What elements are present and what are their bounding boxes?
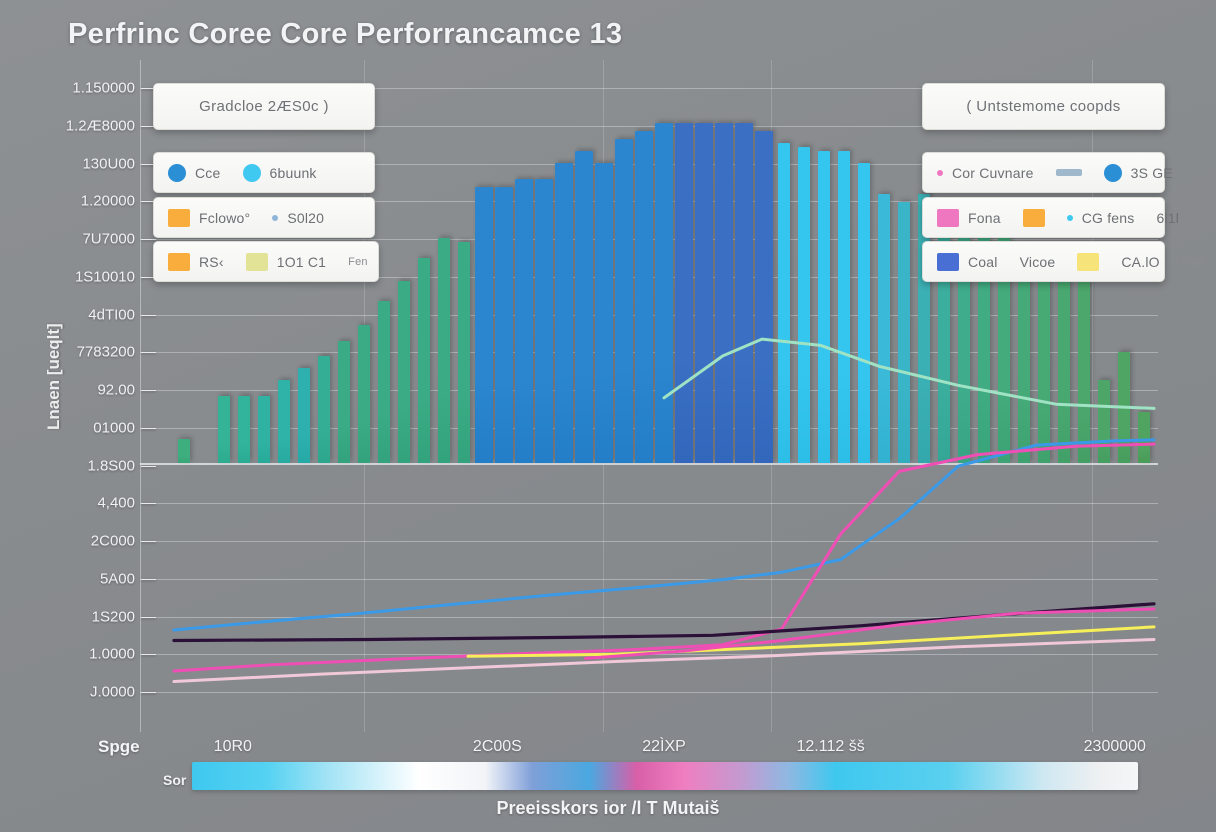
legend-label: 1O1 C1	[277, 254, 326, 270]
y-axis-label: Lnaen [ueqlt]	[44, 323, 64, 430]
y-tick-text: 130U00	[82, 155, 135, 172]
legend-square-icon	[1077, 253, 1099, 271]
x-axis-label: Spge	[98, 737, 140, 757]
y-tick-mark: —	[141, 80, 152, 97]
y-tick-label: 1.0000—	[89, 646, 152, 663]
y-tick-text: 5A00	[100, 570, 135, 587]
y-tick-mark: —	[141, 306, 152, 323]
line-pink-pale-low	[174, 640, 1154, 682]
legend-square-icon	[246, 253, 268, 271]
y-tick-text: 01000	[93, 419, 135, 436]
page-title: Perfrinc Coree Core Perforrancamce 13	[68, 18, 622, 51]
y-tick-text: 4,400	[97, 495, 135, 512]
y-tick-mark: —	[141, 268, 152, 285]
legend-label: 3S GE	[1131, 165, 1173, 181]
x-tick-label: 10R0	[214, 738, 252, 756]
legend-label: 6buunk	[270, 165, 317, 181]
line-mint-descending	[664, 339, 1154, 408]
legend-entry[interactable]: S0l20	[272, 210, 324, 226]
x-tick-label: 2300000	[1084, 738, 1146, 756]
legend-label: Coal	[968, 254, 998, 270]
legend-entry[interactable]: 1O1 C1	[246, 253, 326, 271]
y-tick-text: 92.00	[97, 382, 135, 399]
legend-header-card[interactable]: Gradcloe 2ÆS0c )	[153, 83, 375, 130]
y-tick-label: 130U00—	[82, 155, 152, 172]
legend-square-icon	[937, 253, 959, 271]
legend-label: S0l20	[287, 210, 324, 226]
legend-row[interactable]: Cce6buunk	[153, 152, 375, 193]
x-tick-label: 12.112 šš	[796, 738, 864, 756]
y-tick-text: 1S200	[92, 608, 135, 625]
legend-label: Vicoe	[1020, 254, 1056, 270]
colorbar-caption: Preeisskors ior /l T Mutaiš	[0, 798, 1216, 819]
legend-entry[interactable]: Coal	[937, 253, 998, 271]
y-tick-label: 7U7000—	[82, 231, 152, 248]
legend-small-dot-icon	[1067, 215, 1073, 221]
legend-entry[interactable]: Vicoe	[1020, 254, 1056, 270]
legend-dot-icon	[1104, 164, 1122, 182]
legend-row[interactable]: FonaCG fens6l1l	[922, 197, 1165, 238]
legend-entry[interactable]: 6buunk	[243, 164, 317, 182]
y-tick-text: 4dTI00	[88, 306, 135, 323]
legend-entry[interactable]	[1077, 253, 1099, 271]
y-tick-label: 7783200—	[77, 344, 152, 361]
y-tick-mark: —	[141, 231, 152, 248]
chart-canvas: Perfrinc Coree Core Perforrancamce 13 Ln…	[0, 0, 1216, 832]
y-tick-mark: —	[141, 382, 152, 399]
legend-label: CG fens	[1082, 210, 1135, 226]
legend-entry[interactable]: Fona	[937, 209, 1001, 227]
legend-label: Cce	[195, 165, 221, 181]
y-tick-label: 4dTI00—	[88, 306, 152, 323]
legend-entry[interactable]: Cor Cuvnare	[937, 165, 1034, 181]
colorbar[interactable]	[192, 762, 1138, 790]
y-tick-mark: —	[141, 193, 152, 210]
legend-label: hnai	[1182, 256, 1204, 268]
y-tick-text: 1.8S00	[87, 457, 135, 474]
legend-entry[interactable]: CG fens	[1067, 210, 1135, 226]
legend-row[interactable]: RS‹1O1 C1Fen	[153, 241, 379, 282]
legend-entry[interactable]: 3S GE	[1104, 164, 1173, 182]
y-tick-mark: —	[141, 344, 152, 361]
y-tick-label: 92.00—	[97, 382, 152, 399]
y-tick-label: 5A00—	[100, 570, 152, 587]
legend-entry[interactable]	[1023, 209, 1045, 227]
legend-entry[interactable]	[1056, 169, 1082, 176]
legend-row[interactable]: Cor Cuvnare3S GE	[922, 152, 1165, 193]
y-tick-label: 1.150000—	[72, 80, 152, 97]
legend-label: Fen	[348, 256, 368, 268]
legend-label: CA.lO	[1121, 254, 1159, 270]
y-tick-mark: —	[141, 155, 152, 172]
legend-entry[interactable]: Fen	[348, 256, 368, 268]
y-tick-mark: —	[141, 684, 152, 701]
legend-small-dot-icon	[937, 170, 943, 176]
legend-header-text: ( Untstemome coopds	[937, 98, 1150, 115]
legend-label: Fclowo°	[199, 210, 250, 226]
x-tick-label: 22ÌXP	[642, 738, 686, 756]
y-tick-label: 1S10010—	[75, 268, 152, 285]
legend-label: 6l1l	[1156, 210, 1179, 226]
legend-entry[interactable]: Fclowo°	[168, 209, 250, 227]
legend-header-card[interactable]: ( Untstemome coopds	[922, 83, 1165, 130]
y-tick-label: 1S200—	[92, 608, 152, 625]
legend-square-icon	[937, 209, 959, 227]
y-tick-mark: —	[141, 457, 152, 474]
legend-square-icon	[168, 209, 190, 227]
legend-label: Fona	[968, 210, 1001, 226]
legend-entry[interactable]: Cce	[168, 164, 221, 182]
legend-row[interactable]: CoalVicoeCA.lOhnai	[922, 241, 1165, 282]
legend-row[interactable]: Fclowo°S0l20	[153, 197, 375, 238]
legend-dot-icon	[243, 164, 261, 182]
colorbar-label: Sor	[163, 772, 186, 788]
y-tick-text: 7783200	[77, 344, 135, 361]
line-blue-rising	[174, 440, 1154, 630]
y-tick-text: 1.150000	[72, 80, 135, 97]
legend-header-text: Gradcloe 2ÆS0c )	[168, 98, 360, 115]
y-tick-text: 1.2Æ8000	[66, 117, 135, 134]
legend-label: RS‹	[199, 254, 224, 270]
legend-square-icon	[168, 253, 190, 271]
y-tick-label: J.0000—	[90, 684, 152, 701]
legend-entry[interactable]: RS‹	[168, 253, 224, 271]
y-tick-mark: —	[141, 533, 152, 550]
y-tick-label: 1.20000—	[81, 193, 152, 210]
y-tick-label: 1.8S00—	[87, 457, 152, 474]
y-tick-text: 1.20000	[81, 193, 135, 210]
legend-square-icon	[1023, 209, 1045, 227]
legend-small-dot-icon	[272, 215, 278, 221]
y-tick-mark: —	[141, 495, 152, 512]
legend-entry[interactable]: CA.lO	[1121, 254, 1159, 270]
y-tick-text: 7U7000	[82, 231, 135, 248]
y-tick-text: 1.0000	[89, 646, 135, 663]
y-tick-mark: —	[141, 608, 152, 625]
legend-bar-icon	[1056, 169, 1082, 176]
y-tick-mark: —	[141, 419, 152, 436]
y-tick-mark: —	[141, 570, 152, 587]
y-tick-text: 2C000	[91, 533, 135, 550]
y-tick-mark: —	[141, 646, 152, 663]
y-tick-text: 1S10010	[75, 268, 135, 285]
legend-label: Cor Cuvnare	[952, 165, 1034, 181]
x-tick-label: 2C00S	[473, 738, 522, 756]
legend-entry[interactable]: 6l1l	[1156, 210, 1179, 226]
y-tick-label: 4,400—	[97, 495, 152, 512]
legend-dot-icon	[168, 164, 186, 182]
legend-entry[interactable]: hnai	[1182, 256, 1204, 268]
y-tick-text: J.0000	[90, 684, 135, 701]
y-tick-label: 1.2Æ8000—	[66, 117, 152, 134]
y-tick-label: 01000—	[93, 419, 152, 436]
y-tick-label: 2C000—	[91, 533, 152, 550]
y-tick-mark: —	[141, 117, 152, 134]
